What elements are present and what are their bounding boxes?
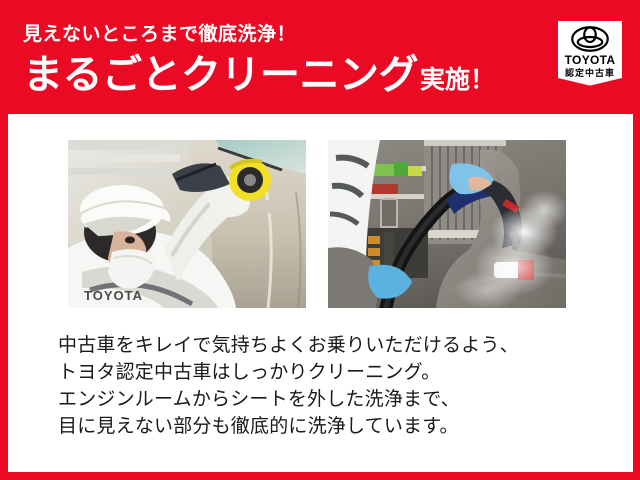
logo-japanese-label: 認定中古車: [558, 66, 622, 79]
kicker-text: 見えないところまで徹底洗浄！: [23, 22, 523, 48]
headline-main-text: まるごとクリーニング: [23, 53, 418, 97]
toyota-certified-logo: TOYOTA 認定中古車: [558, 21, 622, 95]
copy-line-1: 中古車をキレイで気持ちよくお乗りいただけるよう、: [58, 332, 598, 359]
logo-chevron-shape: [558, 78, 622, 95]
cleaning-promo-banner: 見えないところまで徹底洗浄！ まるごとクリーニング実施！ TOYOTA 認定中古…: [0, 0, 640, 480]
photo-polishing: TOYOTA: [68, 140, 306, 308]
main-headline: まるごとクリーニング実施！: [23, 53, 523, 106]
copy-line-4: 目に見えない部分も徹底的に洗浄しています。: [58, 413, 598, 440]
copy-line-2: トヨタ認定中古車はしっかりクリーニング。: [58, 359, 598, 386]
body-copy: 中古車をキレイで気持ちよくお乗りいただけるよう、 トヨタ認定中古車はしっかりクリ…: [58, 332, 598, 440]
headline-block: 見えないところまで徹底洗浄！ まるごとクリーニング実施！: [23, 22, 523, 106]
copy-line-3: エンジンルームからシートを外した洗浄まで、: [58, 386, 598, 413]
logo-wordmark: TOYOTA: [558, 53, 622, 67]
photo-steam-cleaning: [328, 140, 566, 308]
uniform-toyota-text: TOYOTA: [84, 288, 143, 303]
content-panel: TOYOTA: [8, 114, 633, 472]
banner-header: 見えないところまで徹底洗浄！ まるごとクリーニング実施！ TOYOTA 認定中古…: [0, 0, 640, 114]
toyota-ellipse-icon: [571, 26, 609, 52]
headline-suffix-text: 実施！: [420, 66, 495, 94]
